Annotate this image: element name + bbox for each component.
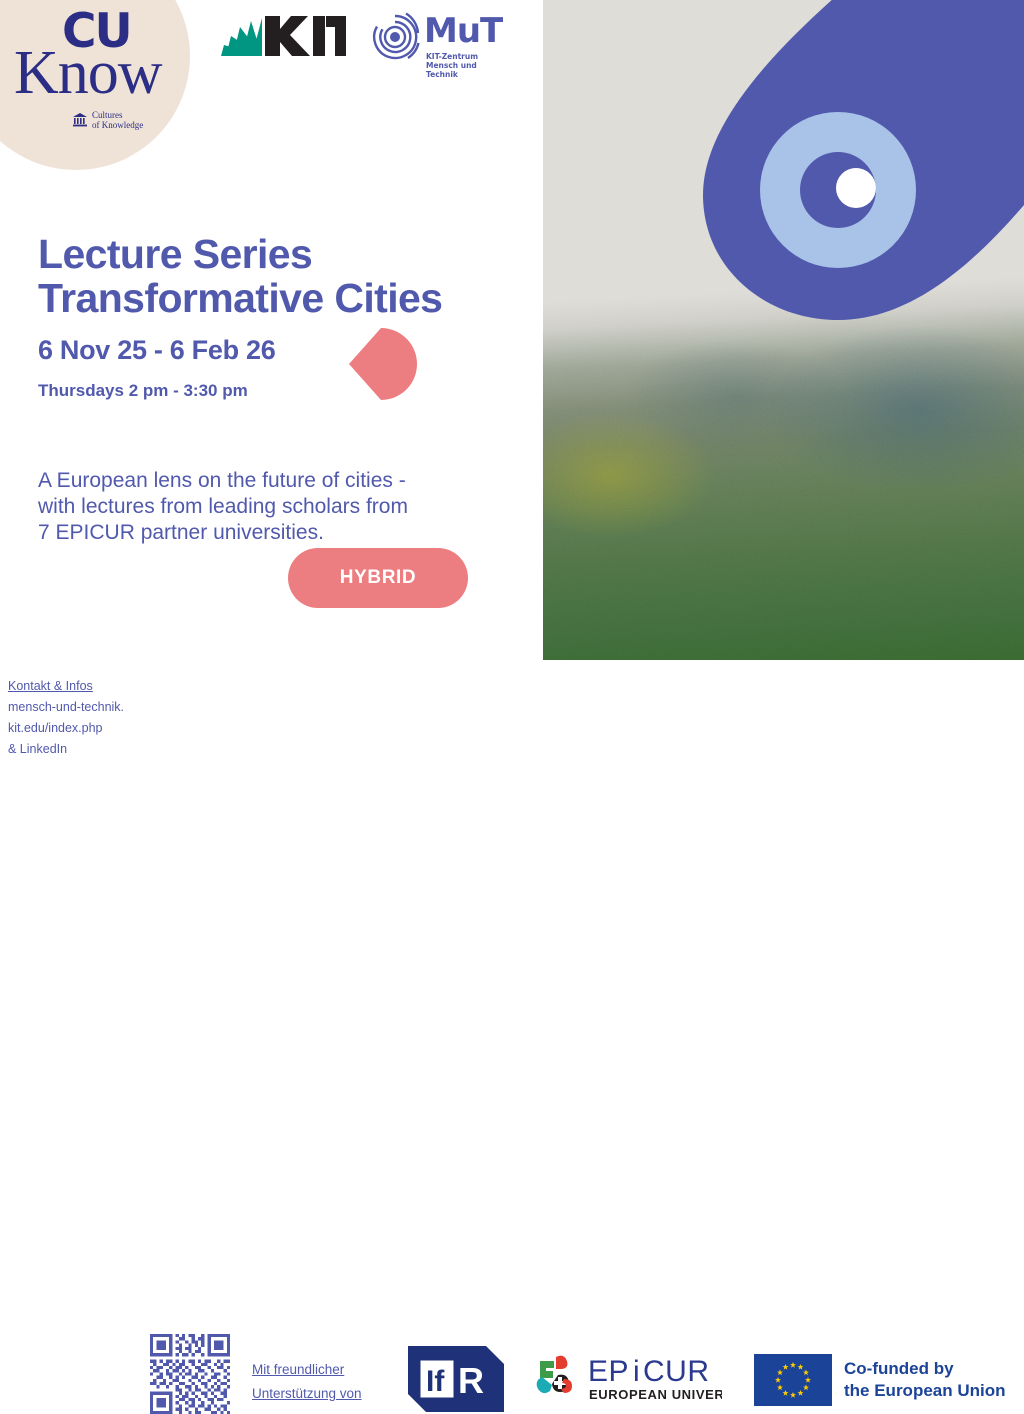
footer: Kontakt & Infos mensch-und-technik. kit.…	[0, 660, 1024, 768]
cuknow-subtitle-text: Cultures of Knowledge	[92, 110, 143, 130]
kit-fan-icon	[221, 18, 262, 56]
epicur-logo-svg: EP i CUR EUROPEAN UNIVERSITY	[534, 1351, 722, 1407]
eu-funding-text: Co-funded by the European Union	[844, 1358, 1006, 1402]
cuknow-know-text: Know	[14, 42, 162, 104]
mut-target-icon	[368, 10, 422, 64]
pacman-arrow-icon	[345, 328, 417, 400]
page-title: Lecture Series Transformative Cities	[38, 232, 442, 320]
mut-logo: MuT KIT-Zentrum Mensch und Technik	[368, 10, 508, 76]
date-range: 6 Nov 25 - 6 Feb 26	[38, 335, 275, 365]
mut-subtitle: KIT-Zentrum Mensch und Technik	[426, 52, 508, 79]
svg-text:If: If	[426, 1365, 445, 1398]
format-badge-label: HYBRID	[340, 567, 416, 589]
poster-root: CU Know Cultures of Knowledge	[0, 0, 1024, 768]
hero-image	[543, 0, 1024, 660]
eye-highlight	[836, 168, 876, 208]
schedule-text: Thursdays 2 pm - 3:30 pm	[38, 381, 248, 401]
bank-icon	[72, 112, 88, 128]
svg-text:R: R	[458, 1360, 484, 1401]
cuknow-logo: CU Know Cultures of Knowledge	[10, 6, 190, 132]
format-badge[interactable]: HYBRID	[288, 548, 468, 608]
cuknow-subtitle-group: Cultures of Knowledge	[72, 110, 143, 130]
svg-text:i: i	[633, 1355, 640, 1388]
eu-funding-logo: Co-funded by the European Union	[754, 1354, 1012, 1406]
eu-flag-icon	[754, 1354, 832, 1406]
ifr-logo: If If If R	[408, 1346, 504, 1412]
epicur-knot-icon	[537, 1356, 572, 1393]
kit-wordmark	[265, 16, 346, 56]
contact-body: mensch-und-technik. kit.edu/index.php & …	[8, 697, 138, 760]
mut-wordmark: MuT	[424, 14, 502, 48]
qr-code[interactable]	[150, 1334, 230, 1414]
kit-logo-svg	[218, 12, 346, 60]
abstract-eye-graphic	[543, 0, 1024, 660]
svg-text:EP: EP	[588, 1355, 629, 1388]
epicur-logo: EP i CUR EUROPEAN UNIVERSITY	[534, 1351, 722, 1407]
svg-text:EUROPEAN UNIVERSITY: EUROPEAN UNIVERSITY	[589, 1387, 722, 1402]
support-text: Mit freundlicher Unterstützung von	[252, 1358, 362, 1406]
contact-heading: Kontakt & Infos	[8, 676, 138, 697]
svg-text:CUR: CUR	[643, 1355, 710, 1388]
kit-logo	[218, 12, 346, 60]
contact-info[interactable]: Kontakt & Infos mensch-und-technik. kit.…	[8, 676, 138, 760]
description-text: A European lens on the future of cities …	[38, 468, 408, 546]
